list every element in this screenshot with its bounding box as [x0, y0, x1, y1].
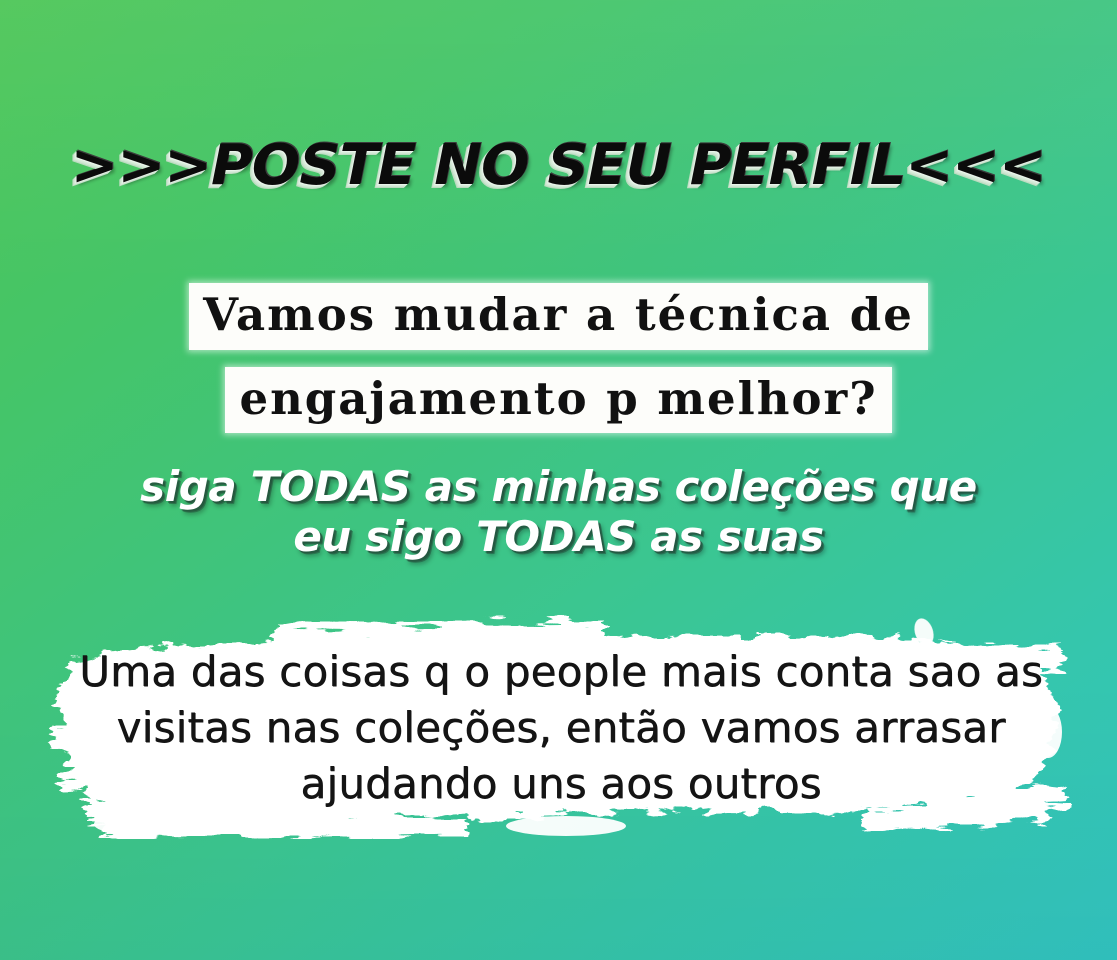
brush-stroke-block: Uma das coisas q o people mais conta sao…	[46, 614, 1076, 839]
question-line-1: Vamos mudar a técnica de	[189, 283, 928, 350]
question-block: Vamos mudar a técnica de engajamento p m…	[0, 283, 1117, 433]
brush-line-3: ajudando uns aos outros	[46, 756, 1076, 812]
callout-line-1: siga TODAS as minhas coleções que	[0, 462, 1117, 512]
poster-headline: >>>POSTE NO SEU PERFIL<<<	[71, 138, 1046, 194]
brush-line-2: visitas nas coleções, então vamos arrasa…	[46, 700, 1076, 756]
question-line-2: engajamento p melhor?	[225, 367, 891, 434]
callout-line-2: eu sigo TODAS as suas	[0, 512, 1117, 562]
brush-text-container: Uma das coisas q o people mais conta sao…	[46, 644, 1076, 812]
social-media-poster: >>>POSTE NO SEU PERFIL<<< Vamos mudar a …	[0, 0, 1117, 960]
callout-block: siga TODAS as minhas coleções que eu sig…	[0, 462, 1117, 563]
brush-line-1: Uma das coisas q o people mais conta sao…	[46, 644, 1076, 700]
headline-container: >>>POSTE NO SEU PERFIL<<<	[0, 138, 1117, 194]
